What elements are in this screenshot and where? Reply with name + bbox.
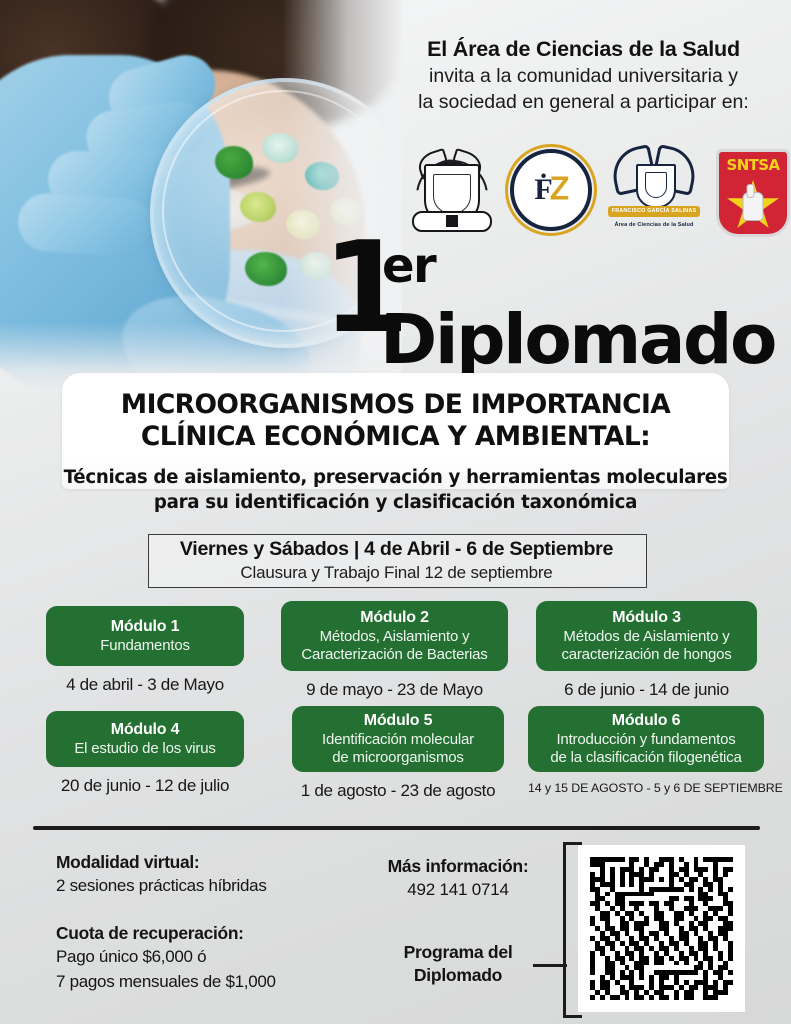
program-qr-label-line-1: Programa del: [358, 941, 558, 964]
module-card-3[interactable]: Módulo 3 Métodos de Aislamiento y caract…: [536, 601, 757, 700]
module-card-5[interactable]: Módulo 5 Identificación molecular de mic…: [292, 706, 504, 801]
modality-label: Modalidad virtual:: [56, 852, 356, 873]
module-card-4[interactable]: Módulo 4 El estudio de los virus 20 de j…: [46, 711, 244, 796]
course-title-line-1: MICROORGANISMOS DE IMPORTANCIA: [62, 389, 729, 421]
qr-bracket-tick: [533, 964, 567, 967]
module-card-2[interactable]: Módulo 2 Métodos, Aislamiento y Caracter…: [281, 601, 508, 700]
module-6-title: Módulo 6: [612, 711, 681, 731]
fee-value-line-1: Pago único $6,000 ó: [56, 946, 356, 968]
sntsa-label: SNTSA: [719, 156, 787, 174]
acs-band-label: FRANCISCO GARCÍA SALINAS: [608, 206, 700, 217]
logo-row: ḞᏃ FRANCISCO GARCÍA SALINAS Área de Cien…: [404, 142, 784, 238]
module-4-desc-line-1: El estudio de los virus: [74, 740, 215, 758]
bacterial-colony: [245, 252, 287, 286]
footer-spacer: [56, 897, 356, 923]
schedule-secondary: Clausura y Trabajo Final 12 de septiembr…: [148, 563, 645, 583]
module-5-desc-line-2: de microorganismos: [332, 749, 463, 767]
module-4-date: 20 de junio - 12 de julio: [46, 776, 244, 796]
course-subtitle-line-2: para su identificación y clasificación t…: [46, 491, 745, 516]
module-card-6[interactable]: Módulo 6 Introducción y fundamentos de l…: [528, 706, 764, 795]
fee-label: Cuota de recuperación:: [56, 923, 356, 944]
module-card-4-body[interactable]: Módulo 4 El estudio de los virus: [46, 711, 244, 767]
module-5-title: Módulo 5: [364, 711, 433, 731]
program-qr-label-line-2: Diplomado: [358, 964, 558, 987]
course-title: MICROORGANISMOS DE IMPORTANCIA CLÍNICA E…: [62, 389, 729, 454]
photo-finger: [16, 191, 156, 258]
fee-value-line-2: 7 pagos mensuales de $1,000: [56, 971, 356, 993]
schedule-primary: Viernes y Sábados | 4 de Abril - 6 de Se…: [148, 538, 645, 561]
header-invitation: El Área de Ciencias de la Salud invita a…: [386, 36, 781, 115]
bacterial-colony: [215, 146, 253, 179]
program-qr-label: Programa del Diplomado: [358, 941, 558, 987]
area-ciencias-salud-logo-icon: FRANCISCO GARCÍA SALINAS Área de Ciencia…: [606, 144, 702, 236]
module-1-date: 4 de abril - 3 de Mayo: [46, 675, 244, 695]
circular-emblem-monogram: ḞᏃ: [534, 173, 567, 207]
module-3-desc-line-1: Métodos de Aislamiento y: [563, 628, 729, 646]
module-1-desc-line-1: Fundamentos: [100, 637, 190, 655]
module-card-5-body[interactable]: Módulo 5 Identificación molecular de mic…: [292, 706, 504, 772]
module-3-desc-line-2: caracterización de hongos: [561, 646, 731, 664]
big-title-ordinal: er: [382, 238, 435, 294]
footer-left-column: Modalidad virtual: 2 sesiones prácticas …: [56, 852, 356, 993]
uaz-scroll-banner: [412, 211, 492, 232]
header-line-2b: la sociedad en general a participar en:: [386, 90, 781, 114]
module-3-date: 6 de junio - 14 de junio: [536, 680, 757, 700]
module-6-desc-line-2: de la clasificación filogenética: [550, 749, 741, 767]
poster-root: El Área de Ciencias de la Salud invita a…: [0, 0, 791, 1024]
circular-emblem-logo-icon: ḞᏃ: [510, 149, 592, 231]
module-5-date: 1 de agosto - 23 de agosto: [292, 781, 504, 801]
big-title-word: Diplomado: [380, 306, 775, 375]
module-card-2-body[interactable]: Módulo 2 Métodos, Aislamiento y Caracter…: [281, 601, 508, 671]
header-line-2a: invita a la comunidad universitaria y: [386, 64, 781, 88]
sntsa-shield-body: SNTSA: [716, 149, 790, 237]
qr-code-programa-diplomado[interactable]: [590, 857, 733, 1000]
sntsa-shield-logo-icon: SNTSA: [716, 149, 784, 231]
modality-value: 2 sesiones prácticas híbridas: [56, 875, 356, 897]
module-4-title: Módulo 4: [111, 720, 180, 740]
sntsa-fist-icon: [743, 192, 764, 221]
phone-number[interactable]: 492 141 0714: [358, 880, 558, 900]
more-info-label: Más información:: [358, 856, 558, 877]
module-1-title: Módulo 1: [111, 617, 180, 637]
acs-shield-icon: [636, 164, 676, 208]
course-subtitle: Técnicas de aislamiento, preservación y …: [46, 466, 745, 515]
module-6-date: 14 y 15 DE AGOSTO - 5 y 6 DE SEPTIEMBRE: [528, 781, 764, 795]
bacterial-colony: [240, 192, 276, 222]
qr-code-container[interactable]: [578, 845, 745, 1012]
module-6-desc-line-1: Introducción y fundamentos: [556, 731, 735, 749]
module-2-title: Módulo 2: [360, 608, 429, 628]
footer-contact: Más información: 492 141 0714: [358, 856, 558, 900]
module-card-3-body[interactable]: Módulo 3 Métodos de Aislamiento y caract…: [536, 601, 757, 671]
module-card-1[interactable]: Módulo 1 Fundamentos 4 de abril - 3 de M…: [46, 606, 244, 695]
course-title-line-2: CLÍNICA ECONÓMICA Y AMBIENTAL:: [62, 421, 729, 453]
module-2-desc-line-2: Caracterización de Bacterias: [301, 646, 487, 664]
module-card-6-body[interactable]: Módulo 6 Introducción y fundamentos de l…: [528, 706, 764, 772]
module-3-title: Módulo 3: [612, 608, 681, 628]
footer-divider: [33, 826, 760, 830]
module-2-date: 9 de mayo - 23 de Mayo: [281, 680, 508, 700]
module-2-desc-line-1: Métodos, Aislamiento y: [320, 628, 470, 646]
module-card-1-body[interactable]: Módulo 1 Fundamentos: [46, 606, 244, 666]
universidad-autonoma-de-zacatecas-seal-icon: [404, 144, 496, 236]
module-5-desc-line-1: Identificación molecular: [322, 731, 474, 749]
course-subtitle-line-1: Técnicas de aislamiento, preservación y …: [46, 466, 745, 491]
header-line-1: El Área de Ciencias de la Salud: [386, 36, 781, 62]
acs-sub-label: Área de Ciencias de la Salud: [606, 222, 702, 228]
